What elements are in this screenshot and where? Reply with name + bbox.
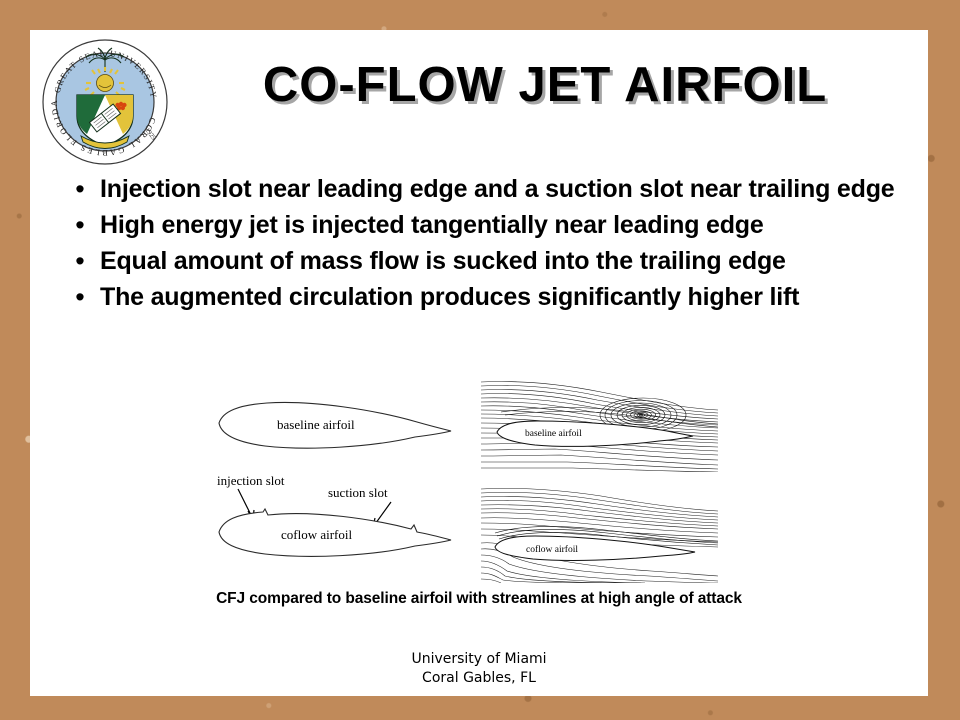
list-item: • Equal amount of mass flow is sucked in… — [60, 244, 910, 278]
slide-footer: University of Miami Coral Gables, FL — [30, 650, 928, 688]
page-title: CO-FLOW JET AIRFOIL — [180, 57, 910, 113]
coflow-streamlines-label: coflow airfoil — [526, 544, 578, 555]
bullet-marker-icon: • — [60, 244, 100, 278]
baseline-streamlines-image: baseline airfoil — [481, 380, 718, 472]
bullet-marker-icon: • — [60, 172, 100, 206]
bullet-text: Equal amount of mass flow is sucked into… — [100, 244, 910, 278]
slide-canvas: GREAT SEAL UNIVERSITY OF MIAMI CORAL GAB… — [30, 30, 928, 696]
footer-line-university: University of Miami — [30, 650, 928, 669]
university-seal-logo: GREAT SEAL UNIVERSITY OF MIAMI CORAL GAB… — [41, 38, 169, 166]
coflow-streamlines-svg: coflow airfoil — [481, 485, 718, 583]
coflow-airfoil-label: coflow airfoil — [281, 527, 353, 542]
figure-block: baseline airfoil injection slot suction … — [30, 348, 928, 563]
injection-slot-label: injection slot — [217, 473, 285, 488]
bullet-text: Injection slot near leading edge and a s… — [100, 172, 910, 206]
coflow-streamlines-image: coflow airfoil — [481, 485, 718, 583]
bullet-text: High energy jet is injected tangentially… — [100, 208, 910, 242]
slide-background: GREAT SEAL UNIVERSITY OF MIAMI CORAL GAB… — [0, 0, 960, 720]
baseline-airfoil-label: baseline airfoil — [277, 417, 355, 432]
figure-caption: CFJ compared to baseline airfoil with st… — [30, 590, 928, 608]
list-item: • High energy jet is injected tangential… — [60, 208, 910, 242]
suction-slot-label: suction slot — [328, 485, 388, 500]
airfoil-schematic-svg: baseline airfoil injection slot suction … — [205, 375, 473, 563]
bullet-marker-icon: • — [60, 208, 100, 242]
list-item: • Injection slot near leading edge and a… — [60, 172, 910, 206]
baseline-streamlines-label: baseline airfoil — [525, 428, 582, 439]
bullet-text: The augmented circulation produces signi… — [100, 280, 910, 314]
slide-header: GREAT SEAL UNIVERSITY OF MIAMI CORAL GAB… — [30, 30, 928, 160]
seal-graphic: GREAT SEAL UNIVERSITY OF MIAMI CORAL GAB… — [41, 38, 169, 166]
bullet-marker-icon: • — [60, 280, 100, 314]
baseline-streamlines-svg: baseline airfoil — [481, 380, 718, 472]
airfoil-schematic-diagram: baseline airfoil injection slot suction … — [205, 375, 473, 563]
shield-icon — [77, 95, 133, 149]
list-item: • The augmented circulation produces sig… — [60, 280, 910, 314]
footer-line-location: Coral Gables, FL — [30, 669, 928, 688]
bullet-list: • Injection slot near leading edge and a… — [60, 172, 910, 316]
